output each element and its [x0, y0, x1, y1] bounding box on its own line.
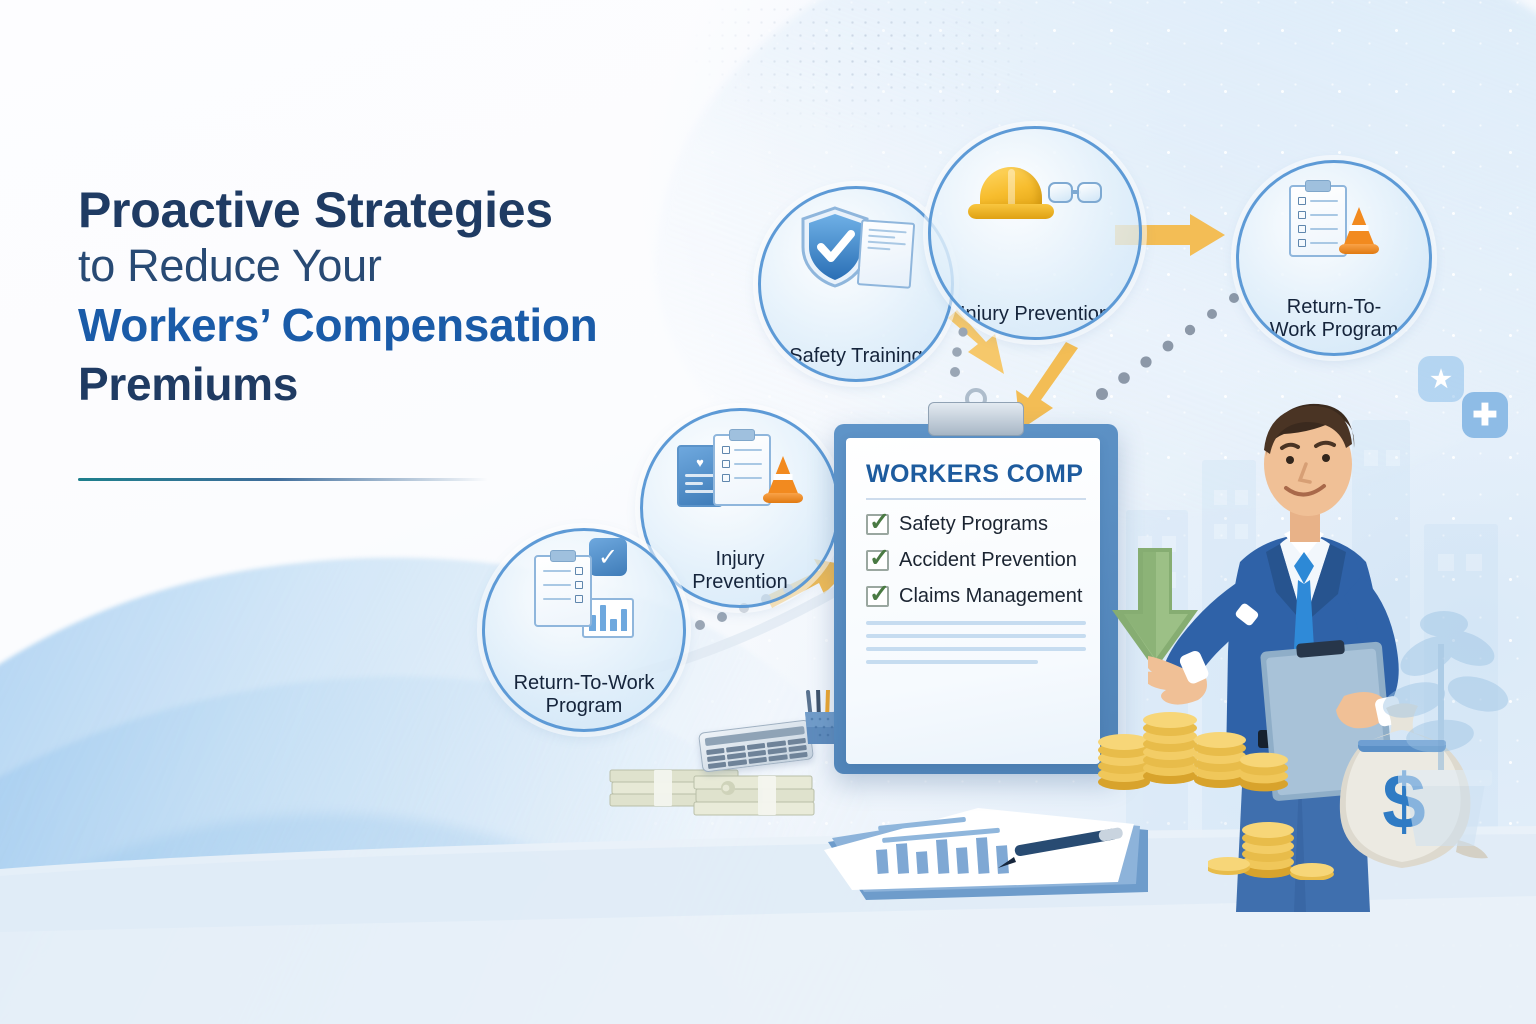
- node-label-line-2: Work Program: [1270, 319, 1399, 341]
- clipboard-card-cone-icon: ♥: [643, 411, 837, 520]
- clipboard-icon: [534, 555, 592, 627]
- node-label-line-1: Injury: [716, 548, 765, 570]
- checkbox-checked-icon[interactable]: [866, 550, 889, 571]
- node-label-return-to-work-top: Return-To- Work Program: [1239, 296, 1429, 343]
- clipboard-sheet: WORKERS COMP Safety Programs Accident Pr…: [846, 438, 1100, 764]
- node-label-line-2: Prevention: [692, 571, 788, 593]
- clipboard-clamp: [928, 402, 1024, 436]
- star-glyph: ★: [1430, 365, 1452, 394]
- clipboard-heading: WORKERS COMP: [866, 460, 1086, 489]
- node-label-injury-prevention-top: Injury Prevention: [931, 303, 1139, 327]
- infographic-canvas: Proactive Strategies to Reduce Your Work…: [0, 0, 1536, 1024]
- document-icon: [857, 219, 915, 289]
- node-injury-prevention-top[interactable]: Injury Prevention: [928, 126, 1142, 340]
- clipboard-heading-rule: [866, 498, 1086, 500]
- checklist-item-label: Safety Programs: [899, 513, 1048, 536]
- gold-coin-stacks: [1098, 700, 1298, 792]
- traffic-cone-icon: [763, 453, 803, 503]
- potted-plant: [1370, 604, 1520, 854]
- checklist-item[interactable]: Safety Programs: [866, 513, 1086, 536]
- bar-chart-report: [818, 780, 1148, 900]
- node-label-text: Injury Prevention: [960, 303, 1110, 325]
- node-label-line-1: Return-To-: [1287, 296, 1381, 318]
- checklist-item-label: Claims Management: [899, 585, 1082, 608]
- checklist-item-label: Accident Prevention: [899, 549, 1077, 572]
- headline-line-2: to Reduce Your: [78, 237, 738, 296]
- gold-coins-foreground: [1208, 818, 1338, 880]
- clipboard-cone-icon: [1239, 163, 1429, 269]
- check-badge-icon: ✓: [589, 538, 627, 576]
- headline-line-3: Workers’ Compensation: [78, 296, 738, 356]
- headline-line-1: Proactive Strategies: [78, 184, 738, 237]
- clipboard-check-chart-icon: ✓: [485, 531, 683, 642]
- hardhat-icon: [968, 165, 1054, 219]
- checkbox-checked-icon[interactable]: [866, 514, 889, 535]
- node-return-to-work-top[interactable]: Return-To- Work Program: [1236, 160, 1432, 356]
- headline-block: Proactive Strategies to Reduce Your Work…: [78, 184, 738, 414]
- checklist-item[interactable]: Accident Prevention: [866, 549, 1086, 572]
- checkbox-checked-icon[interactable]: [866, 586, 889, 607]
- workers-comp-clipboard[interactable]: WORKERS COMP Safety Programs Accident Pr…: [834, 424, 1118, 774]
- headline-divider: [78, 478, 488, 481]
- traffic-cone-icon: [1339, 204, 1379, 254]
- clipboard-ruled-lines: [866, 621, 1086, 664]
- headline-line-4: Premiums: [78, 355, 738, 414]
- shield-check-icon: [761, 189, 951, 295]
- checklist-item[interactable]: Claims Management: [866, 585, 1086, 608]
- safety-goggles-icon: [1048, 182, 1102, 208]
- node-label-safety-training: Safety Training: [761, 345, 951, 369]
- plus-glyph: ✚: [1472, 398, 1497, 433]
- node-safety-training[interactable]: Safety Training: [758, 186, 954, 382]
- hardhat-goggles-icon: [931, 129, 1139, 245]
- plus-badge-icon: ✚: [1462, 392, 1508, 438]
- star-badge-icon: ★: [1418, 356, 1464, 402]
